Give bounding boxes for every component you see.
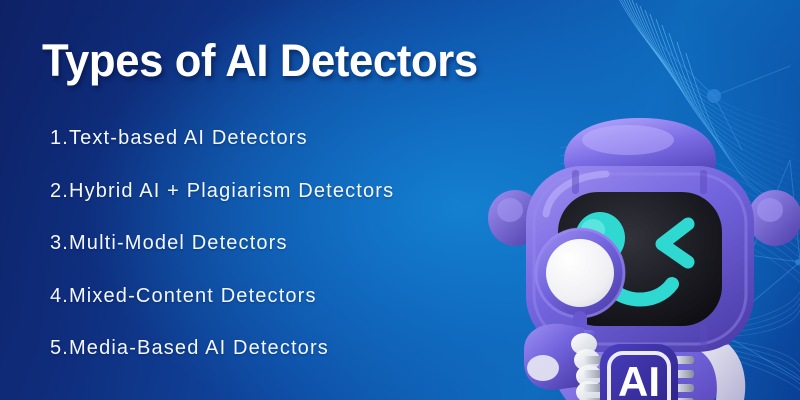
list-item: 1.Text-based AI Detectors [50,112,520,165]
list-item-number: 2. [50,180,69,202]
detector-types-list: 1.Text-based AI Detectors 2.Hybrid AI + … [50,112,520,375]
list-item: 4.Mixed-Content Detectors [50,270,520,323]
ai-robot-mascot: AI [488,118,800,400]
list-item-number: 4. [50,285,69,307]
list-item-label: Mixed-Content Detectors [69,285,317,307]
list-item: 3.Multi-Model Detectors [50,217,520,270]
poster-canvas: Types of AI Detectors 1.Text-based AI De… [0,0,800,400]
list-item: 5.Media-Based AI Detectors [50,322,520,375]
list-item-label: Text-based AI Detectors [69,127,308,149]
list-item-label: Multi-Model Detectors [69,232,288,254]
chip-label: AI [618,358,660,400]
list-item-label: Media-Based AI Detectors [69,337,329,359]
list-item-number: 1. [50,127,69,149]
page-title: Types of AI Detectors [42,35,478,87]
list-item: 2.Hybrid AI + Plagiarism Detectors [50,165,520,218]
list-item-number: 5. [50,337,69,359]
list-item-label: Hybrid AI + Plagiarism Detectors [69,180,394,202]
list-item-number: 3. [50,232,69,254]
